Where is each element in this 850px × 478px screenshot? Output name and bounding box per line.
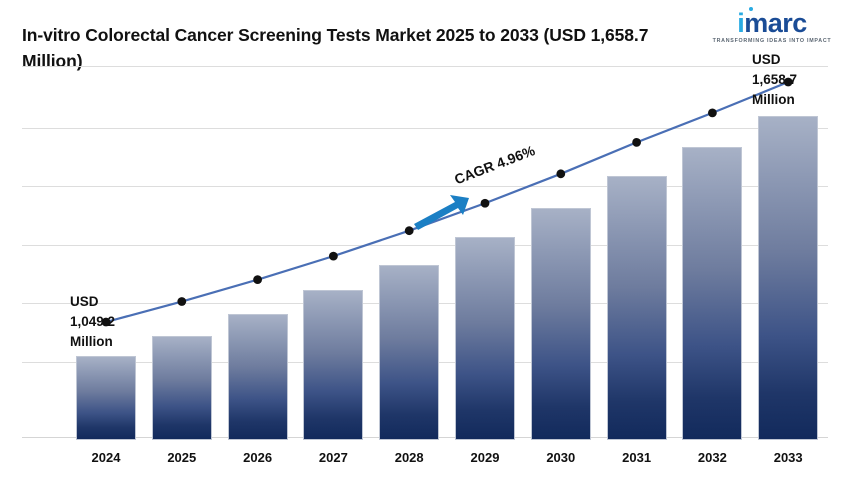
x-tick-2032: 2032 <box>677 450 747 465</box>
x-tick-2027: 2027 <box>298 450 368 465</box>
cagr-arrow-icon <box>414 195 469 230</box>
start-callout-line-3: Million <box>70 332 132 352</box>
start-callout-line-2: 1,049.2 <box>70 312 132 332</box>
trend-marker-2027 <box>329 252 338 261</box>
trend-marker-2028 <box>405 226 414 235</box>
trend-marker-2031 <box>632 138 641 147</box>
trend-marker-2029 <box>481 199 490 208</box>
end-callout-line-1: USD <box>752 50 822 70</box>
x-tick-2028: 2028 <box>374 450 444 465</box>
x-tick-2031: 2031 <box>602 450 672 465</box>
bar-2032 <box>682 147 742 440</box>
bar-2029 <box>455 237 515 440</box>
x-tick-2024: 2024 <box>71 450 141 465</box>
bar-2031 <box>607 176 667 440</box>
trend-marker-2026 <box>253 275 262 284</box>
trend-marker-2025 <box>177 297 186 306</box>
bar-2027 <box>303 290 363 440</box>
trend-marker-2032 <box>708 109 717 118</box>
x-tick-2025: 2025 <box>147 450 217 465</box>
bar-2026 <box>228 314 288 440</box>
chart-container: In-vitro Colorectal Cancer Screening Tes… <box>0 0 850 478</box>
bar-2025 <box>152 336 212 440</box>
end-value-callout: USD 1,658.7 Million <box>752 50 822 110</box>
trend-marker-2030 <box>556 169 565 178</box>
x-tick-2033: 2033 <box>753 450 823 465</box>
bar-2024 <box>76 356 136 440</box>
end-callout-line-2: 1,658.7 <box>752 70 822 90</box>
gridline <box>22 66 828 67</box>
bar-2030 <box>531 208 591 440</box>
x-tick-2029: 2029 <box>450 450 520 465</box>
start-callout-line-1: USD <box>70 292 132 312</box>
end-callout-line-3: Million <box>752 90 822 110</box>
bar-2028 <box>379 265 439 440</box>
bar-2033 <box>758 116 818 440</box>
x-tick-2026: 2026 <box>223 450 293 465</box>
x-tick-2030: 2030 <box>526 450 596 465</box>
gridline <box>22 128 828 129</box>
plot-area: 2024202520262027202820292030203120322033 <box>0 0 850 478</box>
start-value-callout: USD 1,049.2 Million <box>70 292 132 352</box>
